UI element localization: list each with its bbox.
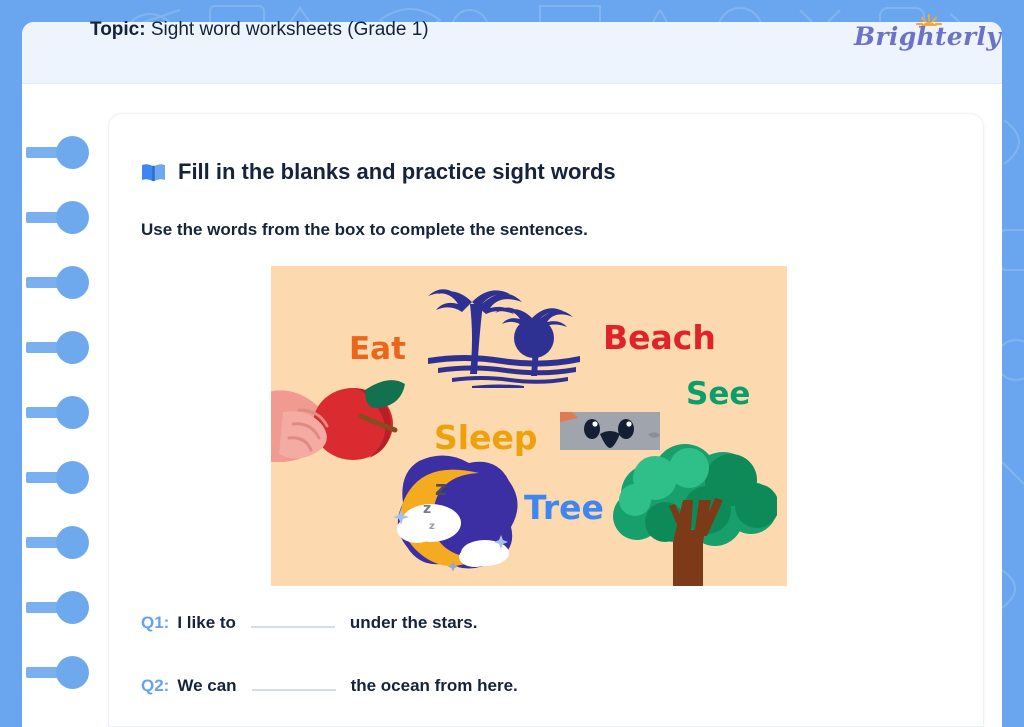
question-1-tag: Q1: [141,613,169,633]
spiral-dot [56,461,89,494]
question-2-answer-blank[interactable] [252,677,336,691]
word-see: See [686,379,750,410]
spiral-dot [56,396,89,429]
spiral-dot [56,591,89,624]
spiral-dot [56,201,89,234]
question-1-text-before: I like to [177,613,236,633]
question-2-text-before: We can [177,676,236,696]
spiral-dot [56,526,89,559]
spiral-dot [56,331,89,364]
worksheet-card: Fill in the blanks and practice sight wo… [108,113,984,727]
instructions-text: Use the words from the box to complete t… [141,220,588,240]
open-book-icon [141,162,166,183]
question-1-text-after: under the stars. [350,613,478,633]
spiral-dot [56,266,89,299]
brighterly-logo[interactable]: Brighterly [854,12,994,56]
svg-text:z: z [429,521,435,532]
word-tree: Tree [524,491,604,524]
crescent-moon-sleeping-icon: z z z [383,451,529,571]
word-sleep: Sleep [434,421,537,454]
palm-trees-sunset-icon [428,274,580,388]
spiral-dot [56,136,89,169]
svg-text:z: z [423,501,431,517]
topic-line: Topic: Sight word worksheets (Grade 1) [90,19,429,41]
topic-label: Topic: [90,19,146,40]
word-box-panel: z z z [271,266,787,586]
binding-spine-strip [0,0,22,727]
word-beach: Beach [603,321,716,354]
tree-icon [611,438,777,586]
logo-wordmark: Brighterly [854,22,994,51]
question-1-answer-blank[interactable] [251,614,335,628]
worksheet-page: Topic: Sight word worksheets (Grade 1) B… [0,0,1024,727]
question-row-2: Q2: We can the ocean from here. [141,676,518,696]
topic-value: Sight word worksheets (Grade 1) [151,19,429,40]
page-title: Fill in the blanks and practice sight wo… [178,159,616,185]
worksheet-heading-row: Fill in the blanks and practice sight wo… [141,159,616,185]
spiral-dot [56,656,89,689]
question-2-tag: Q2: [141,676,169,696]
word-eat: Eat [349,334,406,365]
svg-text:z: z [435,476,447,500]
question-2-text-after: the ocean from here. [351,676,518,696]
question-row-1: Q1: I like to under the stars. [141,613,477,633]
